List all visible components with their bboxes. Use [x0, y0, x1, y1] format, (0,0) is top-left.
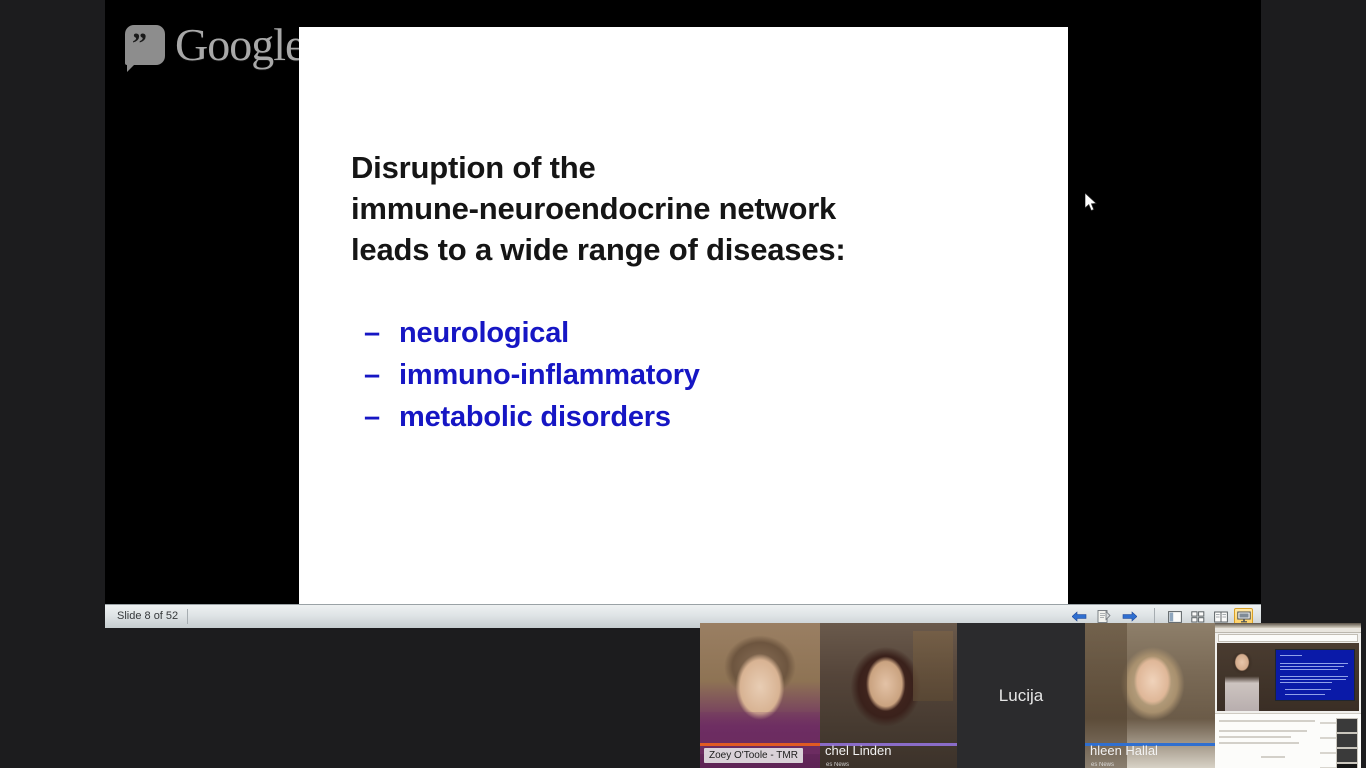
participant-tile-rachel-linden[interactable]: chel Linden es News: [820, 623, 957, 768]
slide-counter: Slide 8 of 52: [108, 609, 188, 624]
participant-affiliation: es News: [1091, 762, 1114, 768]
page-content-below-player: [1215, 713, 1361, 768]
bullet-label-immuno-inflammatory: immuno-inflammatory: [399, 359, 700, 392]
mouse-pointer-icon: [1085, 193, 1099, 218]
slide-heading: Disruption of the immune-neuroendocrine …: [351, 147, 1048, 270]
bullet-dash-icon: –: [364, 401, 399, 434]
participant-filmstrip: Zoey O'Toole - TMR chel Linden es News L…: [700, 623, 1366, 768]
list-item: – metabolic disorders: [364, 401, 1048, 434]
participant-name: Lucija: [999, 686, 1043, 706]
slide-bullet-list: – neurological – immuno-inflammatory – m…: [351, 317, 1048, 434]
next-slide-button[interactable]: [1121, 610, 1137, 624]
previous-slide-button[interactable]: [1071, 610, 1087, 624]
related-video-thumb: [1336, 763, 1358, 768]
shared-video-player: [1217, 643, 1359, 711]
bullet-label-neurological: neurological: [399, 317, 569, 350]
shared-blue-slide: [1275, 649, 1355, 701]
related-video-thumb: [1336, 718, 1358, 733]
browser-tab-row: [1215, 628, 1361, 633]
participant-tile-zoey[interactable]: Zoey O'Toole - TMR: [700, 623, 820, 768]
participant-name: chel Linden: [820, 741, 897, 760]
list-item: – neurological: [364, 317, 1048, 350]
speaking-accent-bar: [700, 743, 820, 746]
participant-tile-screen-share[interactable]: [1215, 623, 1361, 768]
slide-content: Disruption of the immune-neuroendocrine …: [351, 147, 1048, 443]
participant-name: Zoey O'Toole - TMR: [704, 748, 803, 763]
participant-video-zoey: [700, 623, 820, 768]
shared-screen-area[interactable]: ” Google+ Disruption of the immune-neuro…: [105, 0, 1261, 627]
bullet-dash-icon: –: [364, 317, 399, 350]
participant-affiliation: es News: [826, 762, 849, 768]
related-video-thumb: [1336, 733, 1358, 748]
hangouts-quote-bubble-icon: ”: [125, 25, 165, 65]
bullet-label-metabolic-disorders: metabolic disorders: [399, 401, 671, 434]
slide-canvas[interactable]: Disruption of the immune-neuroendocrine …: [299, 27, 1068, 604]
participant-tile-lucija[interactable]: Lucija: [957, 623, 1085, 768]
quote-glyph: ”: [132, 35, 148, 53]
bullet-dash-icon: –: [364, 359, 399, 392]
participant-tile-kathleen-hallal[interactable]: hleen Hallal es News: [1085, 623, 1215, 768]
list-item: – immuno-inflammatory: [364, 359, 1048, 392]
participant-name: hleen Hallal: [1085, 741, 1163, 760]
related-video-thumb: [1336, 748, 1358, 763]
presenter-figure: [1225, 653, 1259, 711]
hangout-window: ” Google+ Disruption of the immune-neuro…: [0, 0, 1366, 768]
browser-url-bar: [1218, 634, 1358, 642]
